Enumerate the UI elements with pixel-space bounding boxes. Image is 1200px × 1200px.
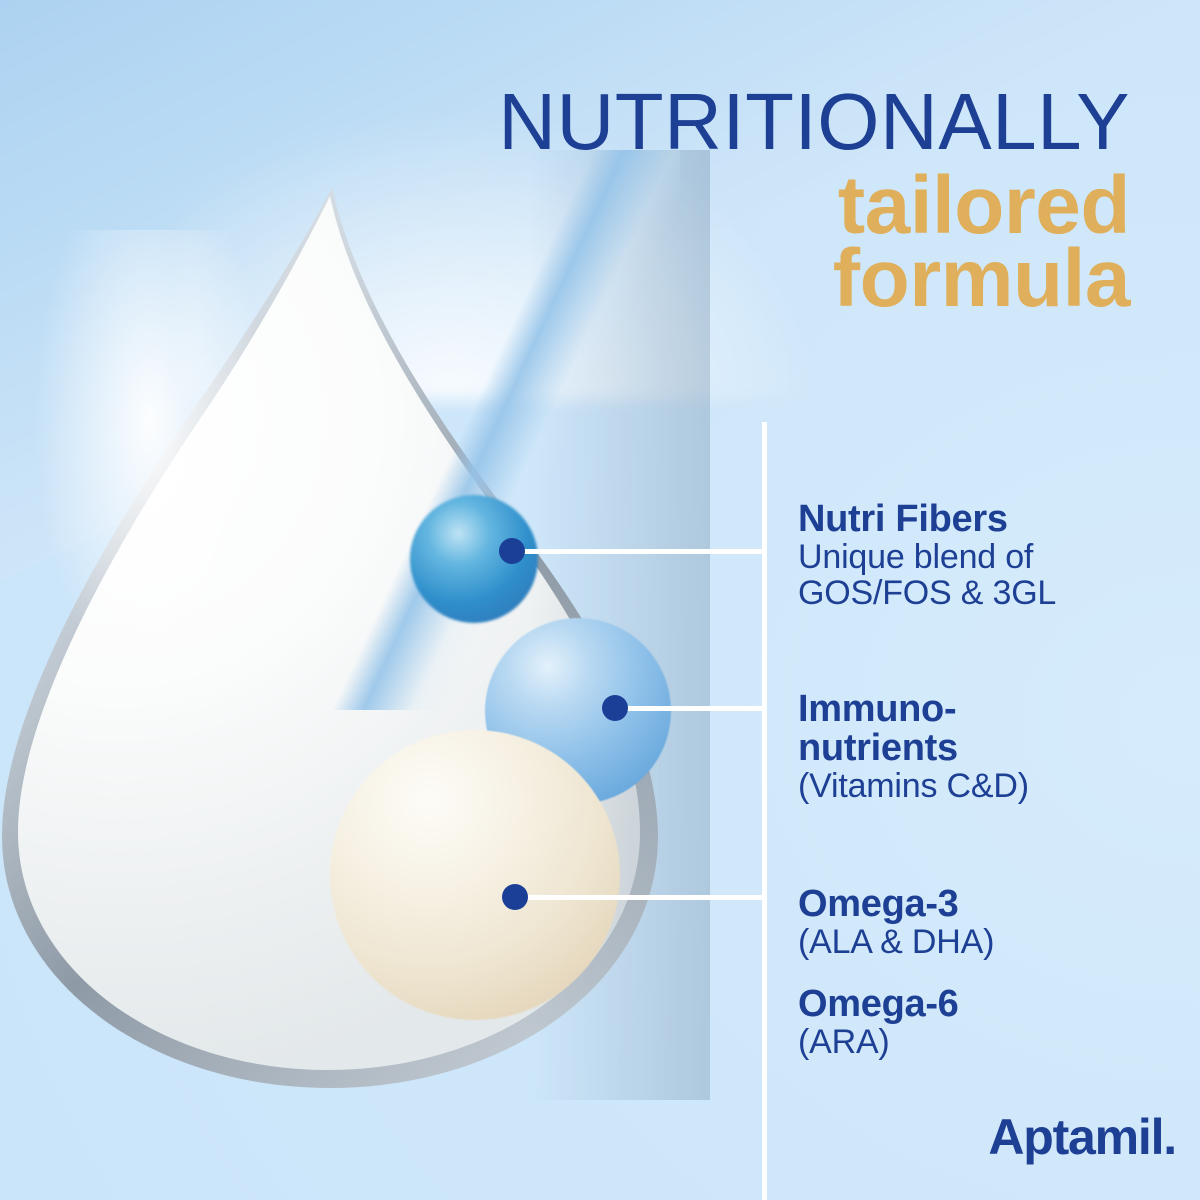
headline-line-1: NUTRITIONALLY (340, 84, 1130, 161)
callout-title-immuno-1: Immuno- (798, 690, 1029, 729)
callout-title-omega-3: Omega-3 (798, 885, 994, 924)
callout-sub-omega-3: (ALA & DHA) (798, 924, 994, 961)
callout-vertical-rule (762, 422, 767, 1200)
callout-sub-nutri-fibers-2: GOS/FOS & 3GL (798, 575, 1056, 612)
poster-canvas: NUTRITIONALLY tailored formula Nutri Fib… (0, 0, 1200, 1200)
brand-logo: Aptamil. (988, 1108, 1176, 1166)
callout-title-omega-6: Omega-6 (798, 985, 959, 1024)
callout-title-nutri-fibers: Nutri Fibers (798, 500, 1056, 539)
callout-omega-6: Omega-6 (ARA) (798, 985, 959, 1060)
callout-omega-3: Omega-3 (ALA & DHA) (798, 885, 994, 960)
callout-sub-omega-6: (ARA) (798, 1024, 959, 1061)
connector-line-nutri-fibers (512, 549, 764, 554)
callout-sub-nutri-fibers-1: Unique blend of (798, 539, 1056, 576)
callout-title-immuno-2: nutrients (798, 729, 1029, 768)
page-title: NUTRITIONALLY tailored formula (340, 84, 1130, 318)
connector-dot-immuno-nutrients (602, 695, 628, 721)
omega-sphere (330, 730, 620, 1020)
connector-dot-nutri-fibers (499, 538, 525, 564)
connector-line-omega (515, 895, 765, 900)
headline-line-3: formula (340, 240, 1130, 319)
connector-line-immuno-nutrients (615, 706, 765, 711)
callout-nutri-fibers: Nutri Fibers Unique blend of GOS/FOS & 3… (798, 500, 1056, 612)
callout-immuno-nutrients: Immuno- nutrients (Vitamins C&D) (798, 690, 1029, 804)
callout-sub-immuno-1: (Vitamins C&D) (798, 768, 1029, 805)
connector-dot-omega (502, 884, 528, 910)
